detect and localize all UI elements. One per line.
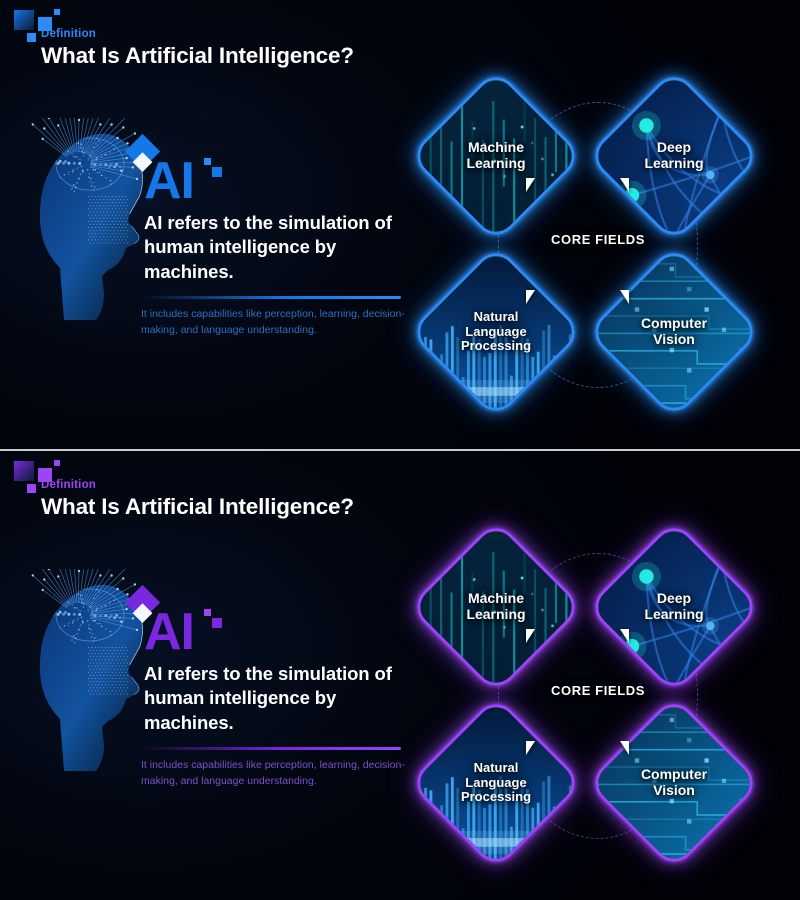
core-field-plate-natural-language-processing — [408, 695, 583, 870]
definition-statement: AI refers to the simulation of human int… — [144, 662, 416, 735]
slide-panel-purple: Definition What Is Artificial Intelligen… — [0, 451, 800, 900]
core-field-plate-machine-learning — [408, 519, 583, 694]
core-field-art-neural-net-icon — [588, 70, 759, 241]
accent-square-large-icon — [212, 618, 222, 628]
accent-square-small-icon — [204, 609, 211, 616]
accent-rule-divider — [141, 747, 401, 750]
core-field-card-machine-learning[interactable]: MachineLearning — [414, 74, 578, 238]
core-field-card-natural-language-processing[interactable]: NaturalLanguageProcessing — [414, 701, 578, 865]
definition-subnote: It includes capabilities like perception… — [141, 757, 409, 790]
core-fields-label: CORE FIELDS — [412, 232, 784, 247]
core-field-plate-computer-vision — [586, 695, 761, 870]
page-title: What Is Artificial Intelligence? — [41, 494, 354, 520]
core-field-plate-computer-vision — [586, 244, 761, 419]
core-field-plate-deep-learning — [586, 68, 761, 243]
core-field-card-deep-learning[interactable]: DeepLearning — [592, 74, 756, 238]
core-field-art-waveform-icon — [410, 697, 581, 868]
core-field-art-neural-net-icon — [588, 521, 759, 692]
core-field-art-data-streams-icon — [410, 70, 581, 241]
definition-subnote: It includes capabilities like perception… — [141, 306, 409, 339]
core-fields-label: CORE FIELDS — [412, 683, 784, 698]
eyebrow-label: Definition — [41, 479, 96, 491]
ai-wordmark-logo: AI — [130, 588, 222, 660]
accent-square-large-icon — [212, 167, 222, 177]
ai-wordmark-logo: AI — [130, 137, 222, 209]
definition-statement: AI refers to the simulation of human int… — [144, 211, 416, 284]
core-field-card-deep-learning[interactable]: DeepLearning — [592, 525, 756, 689]
ai-wordmark-text: AI — [144, 606, 194, 658]
panel-divider — [0, 449, 800, 451]
core-field-plate-machine-learning — [408, 68, 583, 243]
slide-panel-blue: Definition What Is Artificial Intelligen… — [0, 0, 800, 449]
eyebrow-label: Definition — [41, 28, 96, 40]
accent-rule-divider — [141, 296, 401, 299]
core-field-art-circuit-icon — [588, 697, 759, 868]
infographic-page: Definition What Is Artificial Intelligen… — [0, 0, 800, 900]
core-field-card-machine-learning[interactable]: MachineLearning — [414, 525, 578, 689]
core-field-card-natural-language-processing[interactable]: NaturalLanguageProcessing — [414, 250, 578, 414]
core-field-art-waveform-icon — [410, 246, 581, 417]
ai-wordmark-text: AI — [144, 155, 194, 207]
core-field-card-computer-vision[interactable]: ComputerVision — [592, 250, 756, 414]
accent-square-small-icon — [204, 158, 211, 165]
core-field-art-circuit-icon — [588, 246, 759, 417]
core-field-art-data-streams-icon — [410, 521, 581, 692]
page-title: What Is Artificial Intelligence? — [41, 43, 354, 69]
core-field-plate-natural-language-processing — [408, 244, 583, 419]
core-fields-cluster: MachineLearning DeepLearning — [412, 72, 784, 418]
core-field-card-computer-vision[interactable]: ComputerVision — [592, 701, 756, 865]
core-field-plate-deep-learning — [586, 519, 761, 694]
core-fields-cluster: MachineLearning DeepLearning — [412, 523, 784, 869]
